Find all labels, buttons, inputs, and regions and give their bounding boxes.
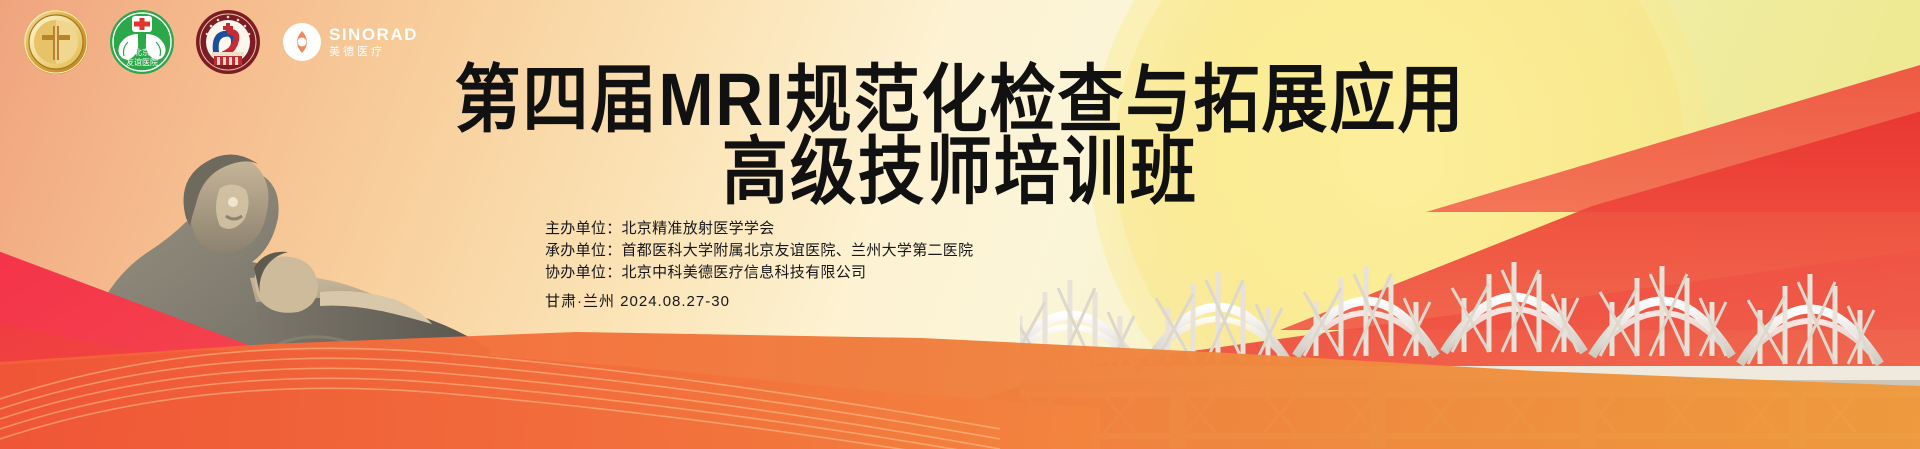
- organizer-line: 主办单位：北京精准放射医学学会: [545, 218, 973, 240]
- gold-coin-icon: [22, 8, 90, 76]
- banner-info-block: 主办单位：北京精准放射医学学会 承办单位：首都医科大学附属北京友谊医院、兰州大学…: [545, 218, 973, 313]
- host-line: 承办单位：首都医科大学附属北京友谊医院、兰州大学第二医院: [545, 240, 973, 262]
- beijing-precision-radiology-society-logo: [22, 8, 90, 76]
- co-organizer-line: 协办单位：北京中科美德医疗信息科技有限公司: [545, 262, 973, 284]
- svg-text:友谊医院: 友谊医院: [126, 57, 158, 67]
- beijing-friendship-hospital-logo: 北京 友谊医院: [108, 8, 176, 76]
- sinorad-eye-icon: [282, 22, 322, 62]
- maroon-seal-icon: [194, 8, 262, 76]
- sinorad-en-label: SINORAD: [329, 26, 418, 43]
- place-date-line: 甘肃·兰州 2024.08.27-30: [545, 291, 973, 313]
- sinorad-cn-label: 美德医疗: [329, 47, 418, 58]
- logo-strip: 北京 友谊医院: [22, 8, 418, 76]
- svg-text:北京: 北京: [134, 47, 150, 57]
- green-doves-cross-icon: 北京 友谊医院: [108, 8, 176, 76]
- sinorad-logo: SINORAD 美德医疗: [282, 8, 418, 76]
- lanzhou-university-second-hospital-logo: [194, 8, 262, 76]
- conference-banner: 北京 友谊医院: [0, 0, 1920, 449]
